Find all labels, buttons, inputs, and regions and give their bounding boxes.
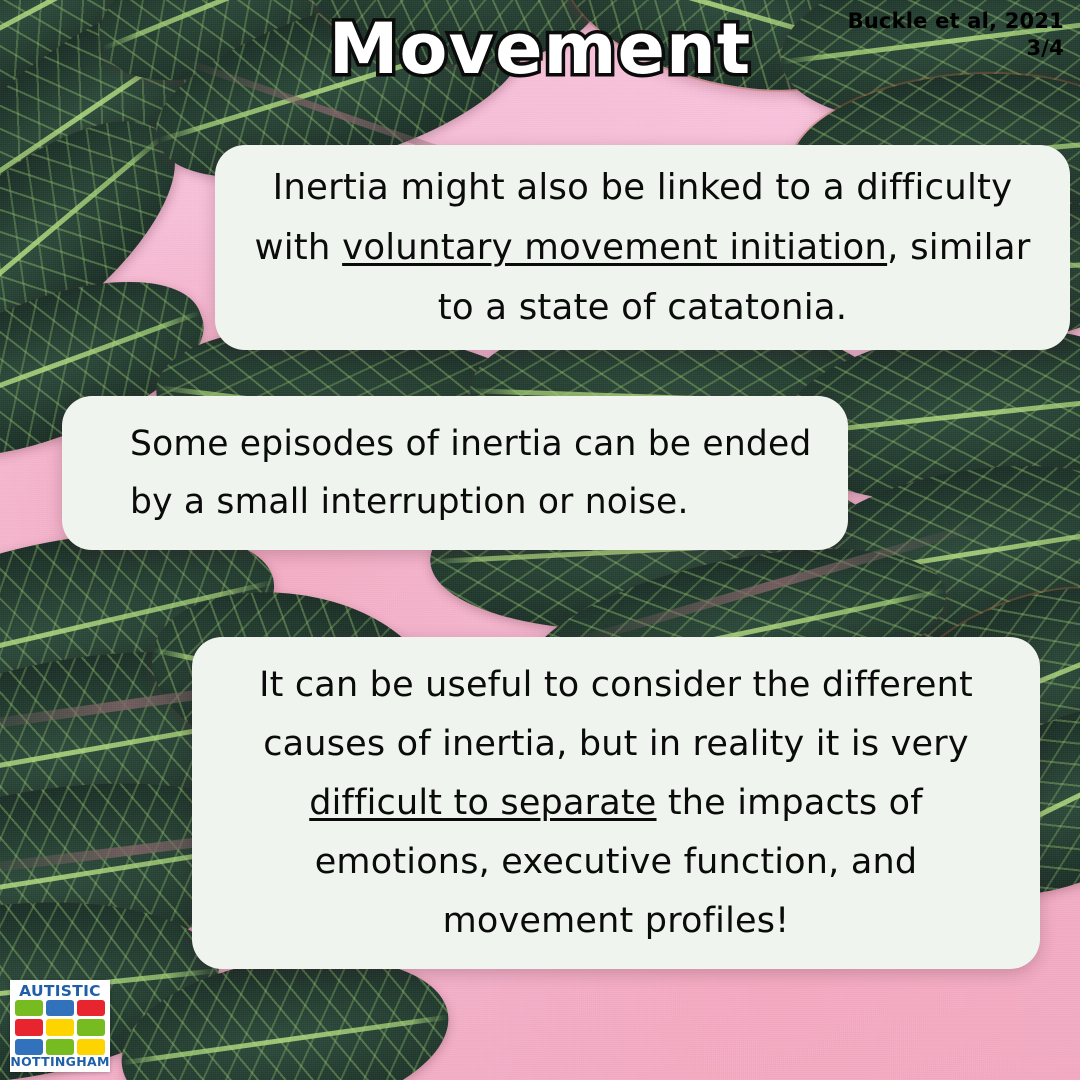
logo-swatch bbox=[46, 1000, 74, 1017]
logo-swatch bbox=[46, 1039, 74, 1056]
card1-emphasis: voluntary movement initiation bbox=[342, 227, 887, 268]
logo-color-grid bbox=[15, 1000, 105, 1056]
logo-top-text: AUTISTIC bbox=[19, 984, 101, 1000]
citation-page-number: 3/4 bbox=[848, 35, 1064, 62]
card3-text-before: It can be useful to consider the differe… bbox=[259, 665, 973, 764]
text-card-causes-of-inertia: It can be useful to consider the differe… bbox=[192, 637, 1040, 969]
logo-swatch bbox=[46, 1019, 74, 1036]
autistic-nottingham-logo[interactable]: AUTISTIC NOTTINGHAM bbox=[10, 980, 110, 1072]
logo-swatch bbox=[15, 1000, 43, 1017]
citation-source: Buckle et al, 2021 bbox=[848, 8, 1064, 35]
logo-swatch bbox=[77, 1019, 105, 1036]
card-text: It can be useful to consider the differe… bbox=[218, 656, 1014, 951]
text-card-inertia-movement-initiation: Inertia might also be linked to a diffic… bbox=[215, 145, 1070, 350]
social-card-slide: Movement Buckle et al, 2021 3/4 Inertia … bbox=[0, 0, 1080, 1080]
logo-bottom-text: NOTTINGHAM bbox=[10, 1056, 109, 1069]
card-text: Inertia might also be linked to a diffic… bbox=[241, 158, 1044, 338]
logo-swatch bbox=[15, 1039, 43, 1056]
citation-block: Buckle et al, 2021 3/4 bbox=[848, 8, 1064, 62]
card3-emphasis: difficult to separate bbox=[309, 783, 656, 823]
logo-swatch bbox=[77, 1000, 105, 1017]
text-card-episodes-ended: Some episodes of inertia can be ended by… bbox=[62, 396, 848, 550]
logo-swatch bbox=[77, 1039, 105, 1056]
card-text: Some episodes of inertia can be ended by… bbox=[88, 415, 822, 531]
logo-swatch bbox=[15, 1019, 43, 1036]
